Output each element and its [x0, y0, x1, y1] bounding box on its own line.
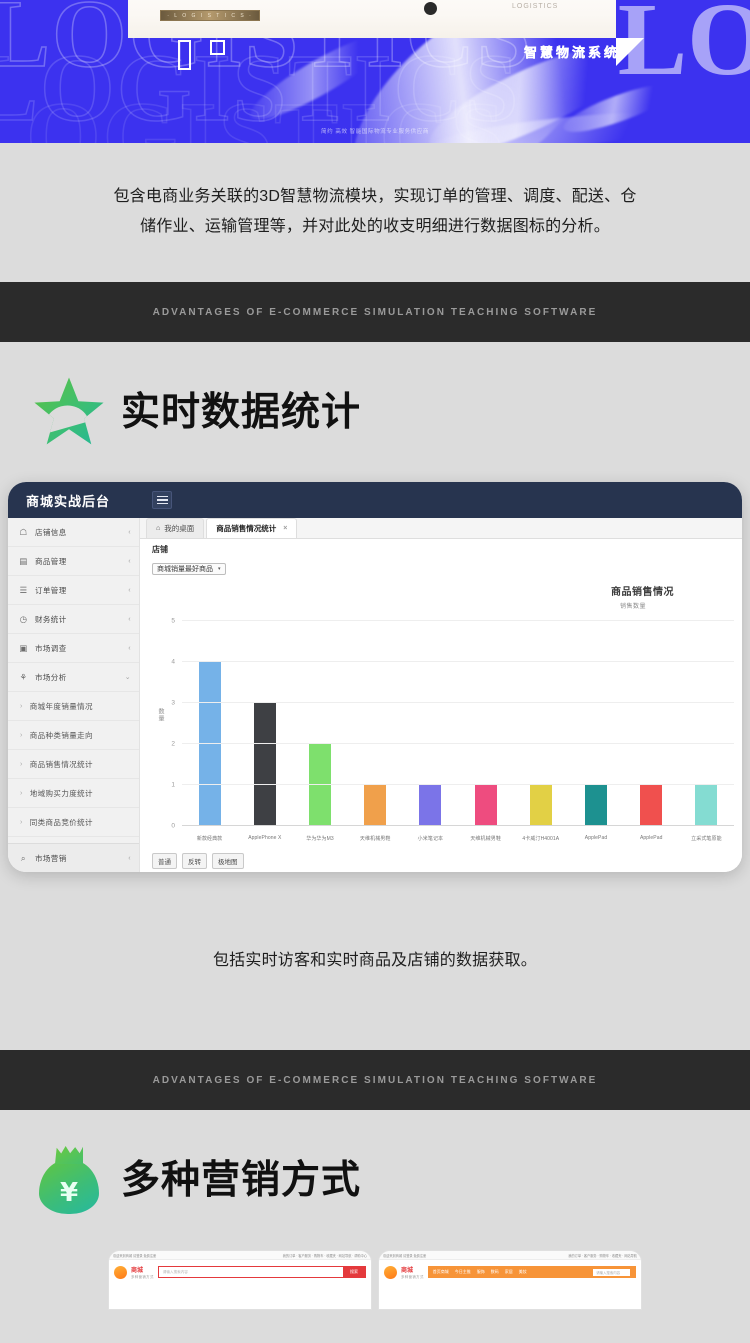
chart-x-label-3: 天维机械男鞋: [348, 835, 403, 842]
hamburger-icon[interactable]: [152, 491, 172, 509]
chart-x-label-0: 新款经典款: [182, 835, 237, 842]
chevron-down-icon: ▾: [218, 566, 221, 572]
chart-gridline-2: 2: [182, 743, 734, 744]
chevron-right-icon: ›: [20, 703, 23, 710]
mini-brand-left: 商城: [131, 1265, 154, 1274]
chevron-icon: ‹: [128, 645, 131, 652]
chevron-icon: ‹: [128, 558, 131, 565]
chart-x-label-9: 立采式笔原能: [679, 835, 734, 842]
chart-bar[interactable]: [254, 703, 276, 826]
mini-nav-item[interactable]: 美妆: [519, 1269, 527, 1275]
mini-nav-item[interactable]: 家居: [505, 1269, 513, 1275]
dashboard-header: 商城实战后台: [8, 482, 742, 518]
chart-x-label-4: 小米笔记本: [403, 835, 458, 842]
bottom-shot-right: 欢迎来到商城 请登录 免费注册 我的订单 · 客户服务 · 购物车 · 收藏夹 …: [378, 1250, 642, 1310]
ribbon-banner-1: ADVANTAGES OF E-COMMERCE SIMULATION TEAC…: [0, 282, 750, 342]
chart-bar[interactable]: [475, 785, 497, 826]
chart-button-2[interactable]: 极地图: [212, 853, 244, 869]
chart-x-label-2: 华为华为M3: [292, 835, 347, 842]
chart-y-tick: 1: [171, 782, 175, 789]
section-title-1: 实时数据统计: [121, 393, 361, 432]
chart-x-label-7: ApplePad: [568, 835, 623, 842]
chart-bar-cell-1: [237, 621, 292, 826]
tab-0[interactable]: ⌂我的桌面: [146, 518, 204, 538]
chart-bar[interactable]: [199, 662, 221, 826]
chart-bar[interactable]: [530, 785, 552, 826]
dashboard-brand: 商城实战后台: [26, 491, 110, 510]
sidebar-subitem-label: 地域购买力度统计: [30, 788, 93, 799]
chevron-icon: ‹: [128, 855, 131, 862]
sidebar-subitem-4[interactable]: ›同类商品竞价统计: [8, 808, 139, 837]
chart-y-tick: 5: [171, 618, 175, 625]
sidebar-item-label: 订单管理: [35, 585, 128, 596]
sidebar-item-label: 市场分析: [35, 672, 125, 683]
sidebar-item-1[interactable]: ▤商品管理‹: [8, 547, 139, 576]
box-icon: ▤: [18, 556, 29, 567]
dashboard-screenshot: 商城实战后台 ☖店铺信息‹▤商品管理‹☰订单管理‹◷财务统计‹▣市场调查‹⚘市场…: [8, 482, 742, 872]
ribbon-text-1: ADVANTAGES OF E-COMMERCE SIMULATION TEAC…: [153, 307, 598, 318]
chart-gridline-0: 0: [182, 825, 734, 826]
mini-brand-right: 商城: [401, 1265, 424, 1274]
star-icon: [33, 376, 105, 448]
tab-bar: ⌂我的桌面商品销售情况统计×: [140, 518, 742, 539]
chart-bar-cell-3: [348, 621, 403, 826]
chart-title: 商品销售情况: [611, 583, 674, 598]
chart-gridline-1: 1: [182, 784, 734, 785]
chart-bar[interactable]: [640, 785, 662, 826]
filter-area: 店铺 商城销量最好商品 ▾: [140, 539, 742, 579]
chart-y-tick: 0: [171, 823, 175, 830]
chart-icon: ⚘: [18, 672, 29, 683]
chart-bar[interactable]: [695, 785, 717, 826]
section-title-2: 多种营销方式: [121, 1161, 361, 1200]
search-icon: ⌕: [18, 853, 29, 864]
mini-brand-sub-left: 多种营销方式: [131, 1274, 154, 1279]
chart-bar[interactable]: [364, 785, 386, 826]
sidebar-item-label: 财务统计: [35, 614, 128, 625]
sidebar-subitem-label: 商品销售情况统计: [30, 759, 93, 770]
chart-bar-cell-0: [182, 621, 237, 826]
chart-button-0[interactable]: 普通: [152, 853, 177, 869]
section-heading-2: ¥ 多种营销方式: [0, 1110, 750, 1250]
sidebar-subitem-label: 商城年度销量情况: [30, 701, 93, 712]
bottom-shots-wrapper: 欢迎来到商城 请登录 免费注册 我的订单 · 客户服务 · 购物车 · 收藏夹 …: [0, 1250, 750, 1310]
sidebar-item-marketing[interactable]: ⌕市场营销‹: [8, 843, 139, 872]
banner-dot: [424, 2, 437, 15]
sidebar-item-label: 市场营销: [35, 853, 128, 864]
chart-x-label-1: ApplePhone X: [237, 835, 292, 842]
tab-1[interactable]: 商品销售情况统计×: [206, 518, 297, 538]
chart-bar[interactable]: [585, 785, 607, 826]
mini-search-input-left[interactable]: 请输入搜索内容: [159, 1270, 343, 1275]
banner-plate-label: · L O G I S T I C S ·: [160, 10, 260, 21]
sidebar-subitem-label: 同类商品竞价统计: [30, 817, 93, 828]
chart-subtitle: 销售数量: [620, 601, 646, 610]
chevron-icon: ‹: [128, 587, 131, 594]
mini-topbar-right: 欢迎来到商城 请登录 免费注册 我的订单 · 客户服务 · 购物车 · 收藏夹 …: [379, 1251, 641, 1260]
chart-x-label-8: ApplePad: [624, 835, 679, 842]
ribbon-text-2: ADVANTAGES OF E-COMMERCE SIMULATION TEAC…: [153, 1075, 598, 1086]
chart-bar-cell-7: [568, 621, 623, 826]
chart-plot: 012345: [182, 621, 734, 826]
banner-footer-text: 简约 高效 智能国际物流专业服务供应商: [0, 127, 750, 135]
chart-x-axis: 新款经典款ApplePhone X华为华为M3天维机械男鞋小米笔记本天维机械男鞋…: [182, 835, 734, 842]
dashboard-sidebar: ☖店铺信息‹▤商品管理‹☰订单管理‹◷财务统计‹▣市场调查‹⚘市场分析⌄›商城年…: [8, 518, 140, 872]
sidebar-item-label: 市场调查: [35, 643, 128, 654]
yen-symbol: ¥: [33, 1180, 105, 1206]
close-icon[interactable]: ×: [283, 525, 287, 532]
mini-search-button-left[interactable]: 搜索: [343, 1267, 365, 1277]
chevron-icon: ‹: [128, 616, 131, 623]
chart-gridline-3: 3: [182, 702, 734, 703]
chart-bar-cell-9: [679, 621, 734, 826]
sidebar-subitem-label: 商品种类销量走向: [30, 730, 93, 741]
description-text-2: 包括实时访客和实时商品及店铺的数据获取。: [60, 946, 690, 976]
banner-card-corner: [616, 38, 644, 66]
money-bag-icon: ¥: [33, 1144, 105, 1216]
chart-button-1[interactable]: 反转: [182, 853, 207, 869]
sidebar-item-2[interactable]: ☰订单管理‹: [8, 576, 139, 605]
sidebar-subitem-3[interactable]: ›地域购买力度统计: [8, 779, 139, 808]
banner-dim-text: LOGISTICS: [512, 3, 558, 10]
chart-y-tick: 2: [171, 741, 175, 748]
description-line-2: 储作业、运输管理等，并对此处的收支明细进行数据图标的分析。: [68, 212, 682, 242]
dashboard-content: ⌂我的桌面商品销售情况统计× 店铺 商城销量最好商品 ▾ 商品销售情况 销售数量…: [140, 518, 742, 872]
mini-search-input-right[interactable]: 请输入搜索内容: [592, 1268, 631, 1277]
mini-nav-item[interactable]: 今日主推: [455, 1269, 471, 1275]
sidebar-subitem-0[interactable]: ›商城年度销量情况: [8, 692, 139, 721]
chevron-right-icon: ›: [20, 761, 23, 768]
mini-nav-right[interactable]: 首页商城今日主推服饰数码家居美妆 请输入搜索内容: [428, 1266, 636, 1278]
chevron-right-icon: ›: [20, 790, 23, 797]
chart-x-label-6: 4卡威汀H4001A: [513, 835, 568, 842]
chart-area: 商品销售情况 销售数量 数量 012345 新款经典款ApplePhone X华…: [140, 579, 742, 850]
list-icon: ☰: [18, 585, 29, 596]
sidebar-item-label: 店铺信息: [35, 527, 128, 538]
sidebar-item-label: 商品管理: [35, 556, 128, 567]
description-block-1: 包含电商业务关联的3D智慧物流模块，实现订单的管理、调度、配送、仓 储作业、运输…: [0, 143, 750, 282]
sidebar-item-3[interactable]: ◷财务统计‹: [8, 605, 139, 634]
mini-topbar-left-text: 欢迎来到商城 请登录 免费注册: [113, 1253, 156, 1258]
chart-bar-cell-5: [458, 621, 513, 826]
chart-y-tick: 3: [171, 700, 175, 707]
mini-nav-item[interactable]: 服饰: [477, 1269, 485, 1275]
tab-label: 商品销售情况统计: [216, 523, 276, 534]
chevron-right-icon: ›: [20, 819, 23, 826]
shop-select-value: 商城销量最好商品: [157, 564, 213, 574]
mini-nav-item[interactable]: 数码: [491, 1269, 499, 1275]
home-icon: ⌂: [156, 525, 160, 532]
description-line-1: 包含电商业务关联的3D智慧物流模块，实现订单的管理、调度、配送、仓: [68, 182, 682, 212]
mini-nav-item[interactable]: 首页商城: [433, 1269, 449, 1275]
chevron-right-icon: ›: [20, 732, 23, 739]
top-banner: LOGISTICS LOGISTICS LOGISTICS LO · L O G…: [0, 0, 750, 143]
chart-gridline-4: 4: [182, 661, 734, 662]
chart-button-row: 普通反转极地图: [140, 850, 742, 872]
chevron-icon: ‹: [128, 529, 131, 536]
chart-y-axis-label: 数量: [156, 708, 165, 722]
tab-label: 我的桌面: [164, 523, 194, 534]
sidebar-item-0[interactable]: ☖店铺信息‹: [8, 518, 139, 547]
banner-chinese-title: 智慧物流系统: [524, 42, 620, 61]
mini-topbar-right-text: 我的订单 · 客户服务 · 购物车 · 收藏夹 · 网站导航 · 帮助中心: [283, 1253, 367, 1258]
mini-topbar-left: 欢迎来到商城 请登录 免费注册 我的订单 · 客户服务 · 购物车 · 收藏夹 …: [109, 1251, 371, 1260]
mini-logo-icon-left: [114, 1266, 127, 1279]
description-block-2: 包括实时访客和实时商品及店铺的数据获取。: [0, 872, 750, 1050]
shop-select[interactable]: 商城销量最好商品 ▾: [152, 563, 226, 575]
chart-bar-cell-8: [624, 621, 679, 826]
clock-icon: ◷: [18, 614, 29, 625]
chart-bar[interactable]: [309, 744, 331, 826]
mini-logo-icon-right: [384, 1266, 397, 1279]
section-heading-1: 实时数据统计: [0, 342, 750, 482]
doc-icon: ▣: [18, 643, 29, 654]
sidebar-item-4[interactable]: ▣市场调查‹: [8, 634, 139, 663]
dashboard-screenshot-wrapper: 商城实战后台 ☖店铺信息‹▤商品管理‹☰订单管理‹◷财务统计‹▣市场调查‹⚘市场…: [0, 482, 750, 872]
chart-bar-cell-2: [292, 621, 347, 826]
ribbon-banner-2: ADVANTAGES OF E-COMMERCE SIMULATION TEAC…: [0, 1050, 750, 1110]
chart-bar-cell-6: [513, 621, 568, 826]
sidebar-subitem-1[interactable]: ›商品种类销量走向: [8, 721, 139, 750]
chart-y-tick: 4: [171, 659, 175, 666]
bottom-shot-left: 欢迎来到商城 请登录 免费注册 我的订单 · 客户服务 · 购物车 · 收藏夹 …: [108, 1250, 372, 1310]
filter-label: 店铺: [152, 544, 742, 555]
sidebar-subitem-2[interactable]: ›商品销售情况统计: [8, 750, 139, 779]
banner-glyph-2: [210, 40, 225, 55]
chart-bars: [182, 621, 734, 826]
mini-search-left[interactable]: 请输入搜索内容 搜索: [158, 1266, 366, 1278]
mini-brand-sub-right: 多种营销方式: [401, 1274, 424, 1279]
user-icon: ☖: [18, 527, 29, 538]
chart-bar-cell-4: [403, 621, 458, 826]
mini-topbar-right-text-2: 我的订单 · 客户服务 · 购物车 · 收藏夹 · 网站导航: [568, 1253, 637, 1258]
banner-glyph-1: [178, 40, 191, 70]
chevron-icon: ⌄: [125, 673, 131, 681]
mini-topbar-left-text-2: 欢迎来到商城 请登录 免费注册: [383, 1253, 426, 1258]
chart-x-label-5: 天维机械男鞋: [458, 835, 513, 842]
sidebar-item-5[interactable]: ⚘市场分析⌄: [8, 663, 139, 692]
chart-bar[interactable]: [419, 785, 441, 826]
chart-gridline-5: 5: [182, 620, 734, 621]
